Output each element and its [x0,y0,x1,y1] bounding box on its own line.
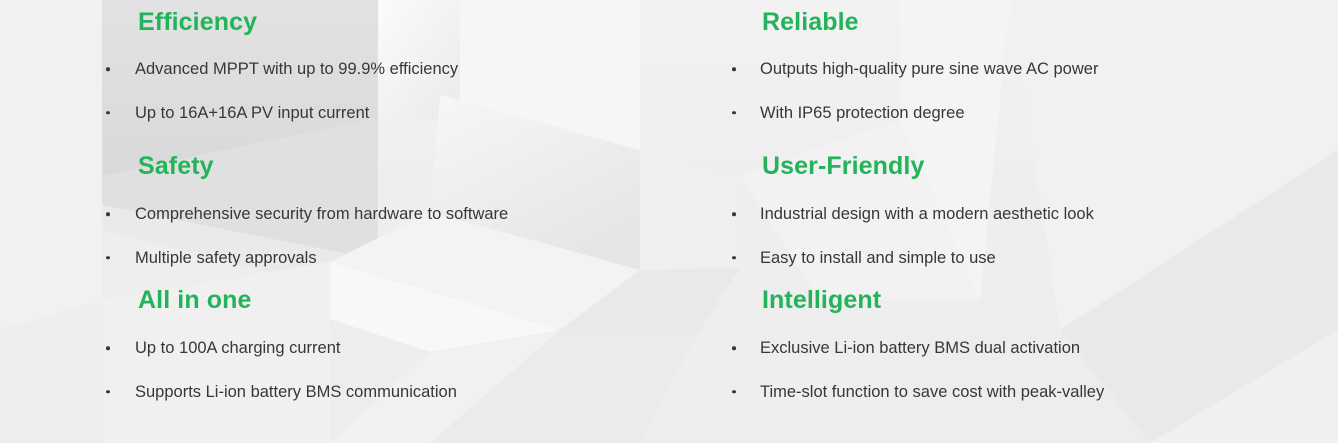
bullet-dot-icon [732,390,736,394]
feature-card-all-in-one: All in one Up to 100A charging current S… [100,278,720,443]
feature-card-efficiency: Efficiency Advanced MPPT with up to 99.9… [100,0,720,139]
bullet-item: Up to 16A+16A PV input current [100,105,720,122]
bullet-dot-icon [732,68,736,72]
bullet-dot-icon [106,256,110,260]
bullet-item: Time-slot function to save cost with pea… [720,384,1338,401]
bullet-item: Supports Li-ion battery BMS communicatio… [100,384,720,401]
bullet-text: Up to 16A+16A PV input current [135,104,369,122]
bullet-dot-icon [732,213,736,217]
feature-card-user-friendly: User-Friendly Industrial design with a m… [720,139,1338,278]
bullet-dot-icon [106,390,110,394]
feature-highlights-slide: Efficiency Advanced MPPT with up to 99.9… [0,0,1338,443]
bullet-item: Industrial design with a modern aestheti… [720,206,1338,223]
bullet-dot-icon [106,111,110,115]
bullet-dot-icon [732,256,736,260]
bullet-text: Up to 100A charging current [135,339,340,357]
bullet-dot-icon [732,347,736,351]
feature-card-reliable: Reliable Outputs high-quality pure sine … [720,0,1338,139]
bullet-item: With IP65 protection degree [720,105,1338,122]
bullet-text: Comprehensive security from hardware to … [135,205,508,223]
feature-title-safety: Safety [100,139,720,179]
bullet-text: With IP65 protection degree [760,104,965,122]
bullet-text: Supports Li-ion battery BMS communicatio… [135,383,457,401]
feature-title-user-friendly: User-Friendly [720,139,1338,179]
bullet-item: Comprehensive security from hardware to … [100,206,720,223]
bullet-dot-icon [106,213,110,217]
bullet-dot-icon [106,68,110,72]
bullet-item: Exclusive Li-ion battery BMS dual activa… [720,340,1338,357]
bullet-text: Time-slot function to save cost with pea… [760,383,1104,401]
bullet-text: Outputs high-quality pure sine wave AC p… [760,60,1098,78]
bullet-item: Advanced MPPT with up to 99.9% efficienc… [100,61,720,78]
features-grid: Efficiency Advanced MPPT with up to 99.9… [0,0,1338,443]
feature-bullets-safety: Comprehensive security from hardware to … [100,179,720,266]
bullet-item: Up to 100A charging current [100,340,720,357]
bullet-item: Easy to install and simple to use [720,250,1338,267]
bullet-text: Exclusive Li-ion battery BMS dual activa… [760,339,1080,357]
feature-title-efficiency: Efficiency [100,0,720,35]
bullet-text: Multiple safety approvals [135,249,317,267]
feature-title-reliable: Reliable [720,0,1338,35]
bullet-text: Industrial design with a modern aestheti… [760,205,1094,223]
feature-bullets-user-friendly: Industrial design with a modern aestheti… [720,179,1338,266]
feature-title-intelligent: Intelligent [720,278,1338,313]
feature-bullets-all-in-one: Up to 100A charging current Supports Li-… [100,313,720,400]
bullet-dot-icon [732,111,736,115]
feature-bullets-intelligent: Exclusive Li-ion battery BMS dual activa… [720,313,1338,400]
bullet-text: Advanced MPPT with up to 99.9% efficienc… [135,60,458,78]
bullet-text: Easy to install and simple to use [760,249,996,267]
feature-bullets-reliable: Outputs high-quality pure sine wave AC p… [720,35,1338,121]
feature-card-intelligent: Intelligent Exclusive Li-ion battery BMS… [720,278,1338,443]
feature-title-all-in-one: All in one [100,278,720,313]
bullet-item: Multiple safety approvals [100,250,720,267]
bullet-dot-icon [106,347,110,351]
feature-card-safety: Safety Comprehensive security from hardw… [100,139,720,278]
feature-bullets-efficiency: Advanced MPPT with up to 99.9% efficienc… [100,35,720,121]
bullet-item: Outputs high-quality pure sine wave AC p… [720,61,1338,78]
